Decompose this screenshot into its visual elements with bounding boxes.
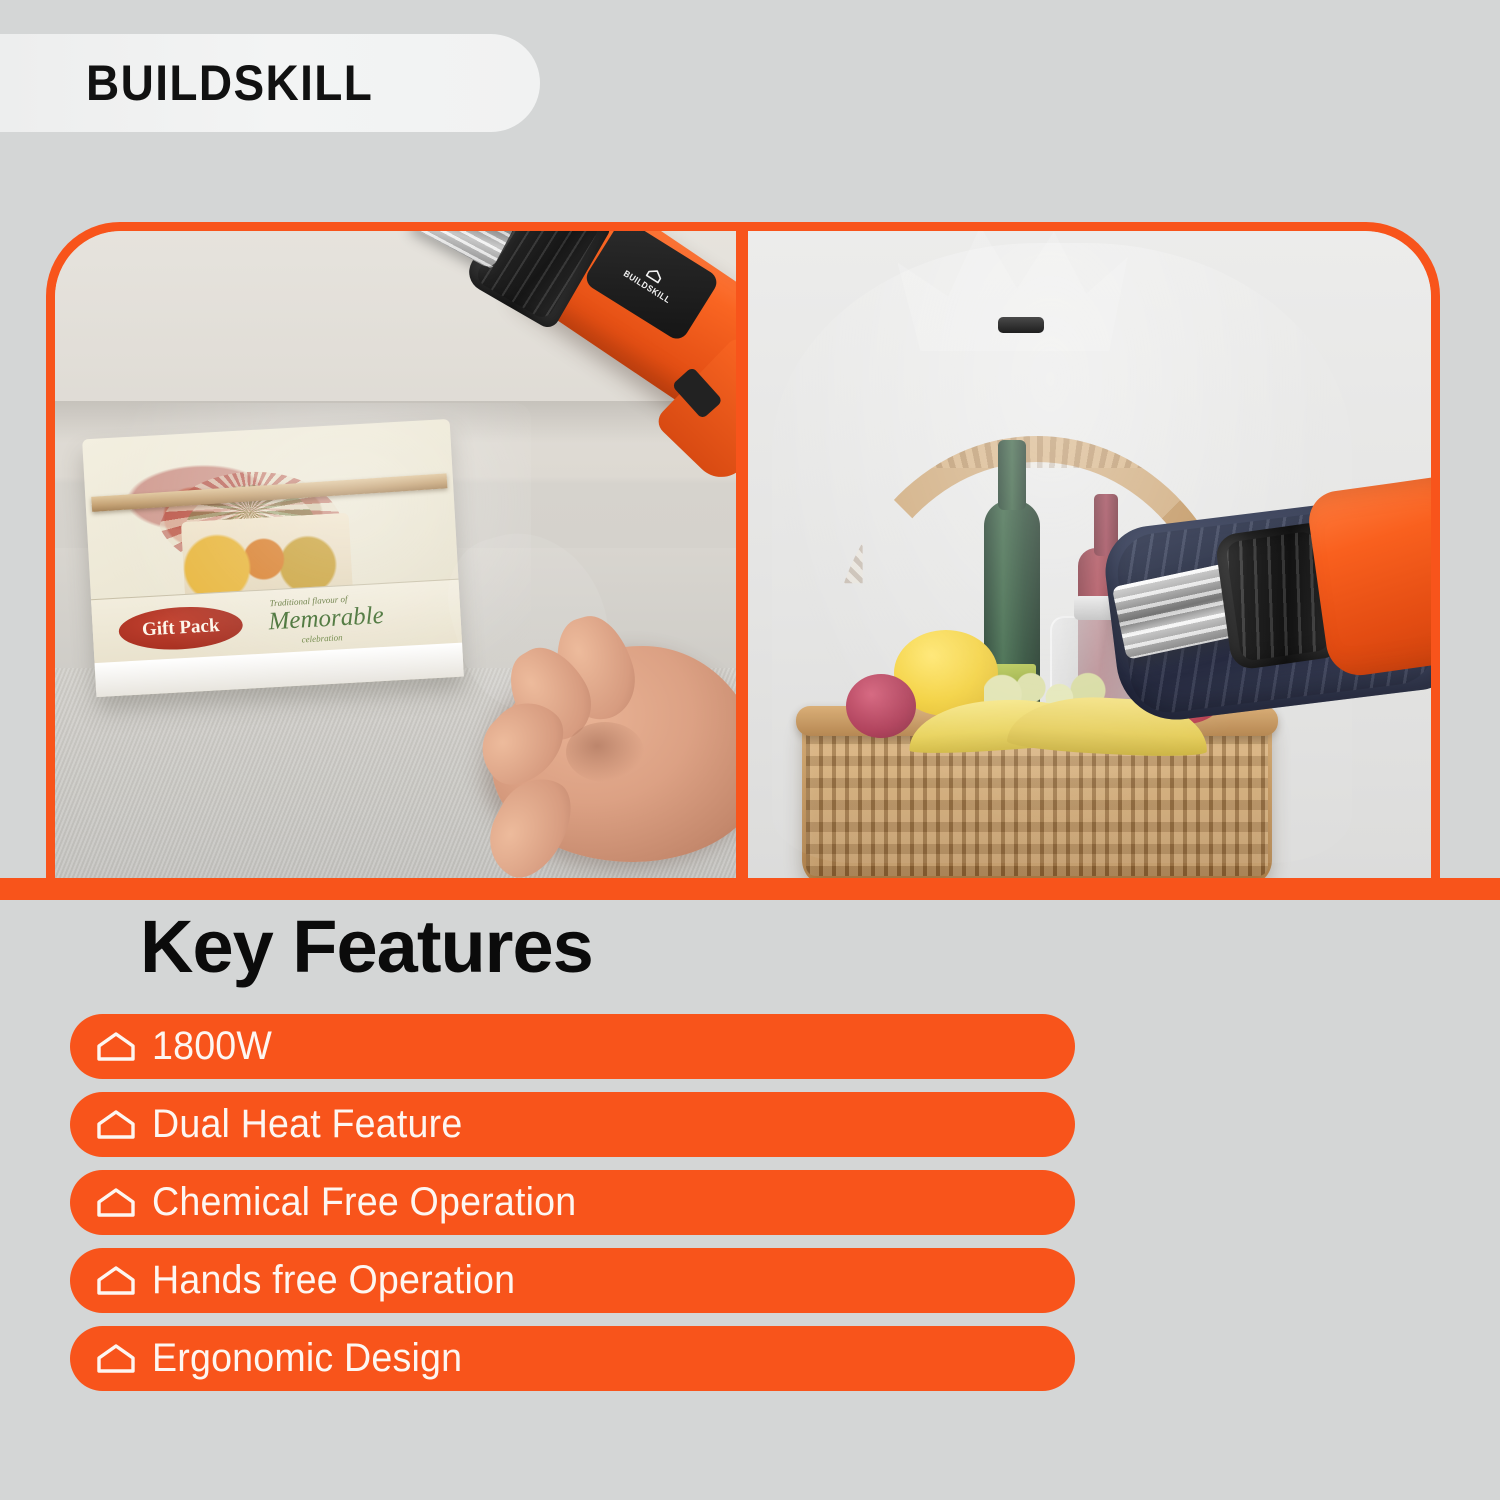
feature-pill-ergonomic: Ergonomic Design <box>70 1326 1075 1391</box>
gift-box-tagline-main: Memorable <box>268 602 385 636</box>
right-scene-background <box>748 231 1431 878</box>
photo-left-shrink-wrap-gift-box: Gift Pack Traditional flavour of Memorab… <box>55 231 736 878</box>
photo-panel-group: Gift Pack Traditional flavour of Memorab… <box>46 222 1440 878</box>
home-icon <box>96 1031 136 1063</box>
gift-pack-oval-badge: Gift Pack <box>118 604 244 653</box>
key-features-title: Key Features <box>140 910 1500 984</box>
hand-knuckle-shadow <box>566 722 644 782</box>
home-icon <box>96 1187 136 1219</box>
shrink-wrap-tie <box>998 317 1044 333</box>
hand-holding-film <box>462 604 736 872</box>
left-scene-background: Gift Pack Traditional flavour of Memorab… <box>55 231 736 878</box>
brand-name: BUILDSKILL <box>86 54 373 112</box>
feature-pill-dual-heat: Dual Heat Feature <box>70 1092 1075 1157</box>
apple-fruit-left <box>846 674 916 738</box>
key-features-section: Key Features 1800W Dual Heat Feature Che… <box>0 910 1500 1391</box>
gift-box: Gift Pack Traditional flavour of Memorab… <box>82 419 464 697</box>
feature-label: Dual Heat Feature <box>152 1102 462 1147</box>
home-icon <box>96 1109 136 1141</box>
feature-pill-hands-free: Hands free Operation <box>70 1248 1075 1313</box>
feature-list: 1800W Dual Heat Feature Chemical Free Op… <box>70 1014 1500 1391</box>
home-icon <box>96 1343 136 1375</box>
brand-banner: BUILDSKILL <box>0 34 540 132</box>
feature-label: Chemical Free Operation <box>152 1180 576 1225</box>
feature-label: Hands free Operation <box>152 1258 515 1303</box>
gift-box-artwork <box>105 431 413 600</box>
gift-box-tagline-sub: celebration <box>301 632 342 644</box>
feature-pill-chemical-free: Chemical Free Operation <box>70 1170 1075 1235</box>
product-feature-infographic: BUILDSKILL <box>0 0 1500 1500</box>
gift-pack-label: Gift Pack <box>141 615 220 641</box>
shrink-wrap-crown <box>898 231 1128 351</box>
photo-right-shrink-wrap-gift-basket <box>748 231 1431 878</box>
feature-label: Ergonomic Design <box>152 1336 462 1381</box>
orange-divider-bar <box>0 878 1500 900</box>
home-icon <box>96 1265 136 1297</box>
feature-label: 1800W <box>152 1024 272 1069</box>
feature-pill-wattage: 1800W <box>70 1014 1075 1079</box>
